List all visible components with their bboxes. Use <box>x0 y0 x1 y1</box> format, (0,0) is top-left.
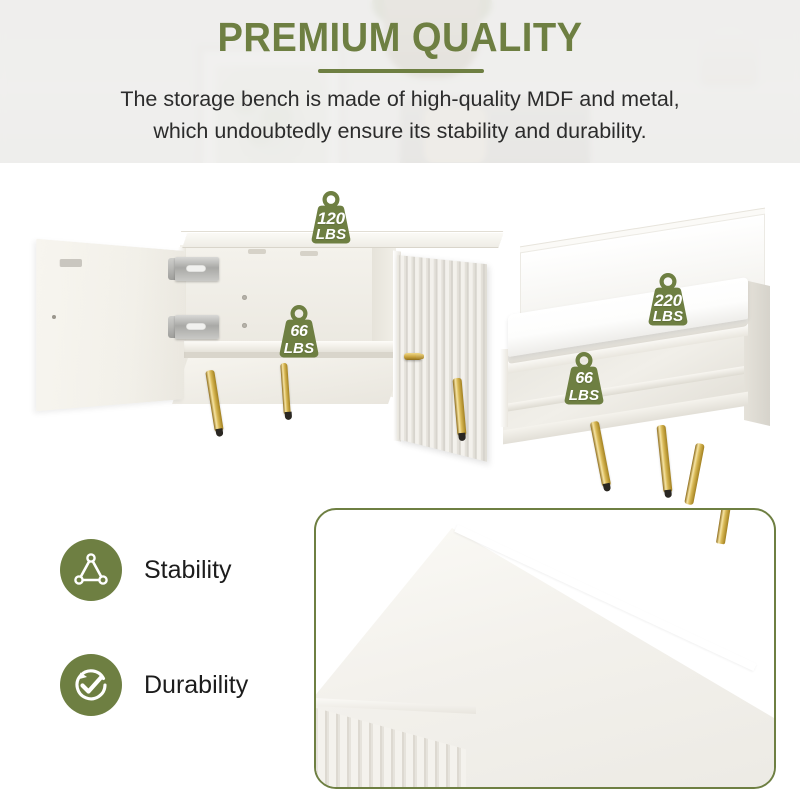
refresh-check-icon <box>70 664 112 706</box>
cabinet-hinge <box>175 315 219 339</box>
capacity-badge-cabinet-shelf: 66 LBS <box>272 303 326 361</box>
triangle-nodes-icon <box>71 550 111 590</box>
inset-gold-leg <box>716 508 731 544</box>
screw <box>242 295 247 300</box>
weight-icon <box>557 350 611 408</box>
weight-icon <box>641 271 695 329</box>
cam-connector <box>300 251 318 256</box>
stability-icon-circle <box>60 539 122 601</box>
door-screw <box>52 315 56 319</box>
door-knob-stem <box>416 354 424 359</box>
capacity-badge-cabinet-top: 120 LBS <box>304 189 358 247</box>
feature-durability: Durability <box>60 654 248 716</box>
header-band: PREMIUM QUALITY The storage bench is mad… <box>0 0 800 163</box>
feature-label: Stability <box>144 556 232 585</box>
durability-icon-circle <box>60 654 122 716</box>
product-photo: 120 LBS 66 LBS 220 LBS 66 LBS <box>0 163 800 500</box>
subtitle-line-1: The storage bench is made of high-qualit… <box>0 87 800 112</box>
capacity-badge-bench-shelf: 66 LBS <box>557 350 611 408</box>
cabinet-door-open[interactable] <box>36 239 184 411</box>
capacity-badge-bench-seat: 220 LBS <box>641 271 695 329</box>
door-label-sticker <box>60 259 82 267</box>
detail-closeup-inset <box>314 508 776 789</box>
bench-leg <box>656 425 672 494</box>
screw <box>242 323 247 328</box>
infographic-page: PREMIUM QUALITY The storage bench is mad… <box>0 0 800 800</box>
weight-icon <box>272 303 326 361</box>
header-content: PREMIUM QUALITY The storage bench is mad… <box>0 0 800 163</box>
feature-label: Durability <box>144 671 248 700</box>
bench-leg <box>590 421 611 488</box>
page-title: PREMIUM QUALITY <box>28 14 772 61</box>
subtitle-line-2: which undoubtedly ensure its stability a… <box>0 119 800 144</box>
title-divider <box>318 69 484 73</box>
feature-stability: Stability <box>60 539 232 601</box>
weight-icon <box>304 189 358 247</box>
cam-connector <box>248 249 266 254</box>
bench-front-post <box>500 349 508 427</box>
cabinet-hinge <box>175 257 219 281</box>
